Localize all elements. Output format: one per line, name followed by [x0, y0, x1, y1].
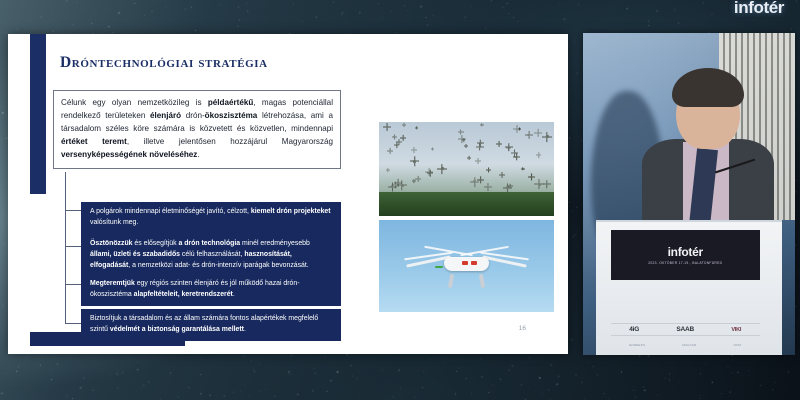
- connector-branch-4: [65, 323, 81, 324]
- drone-silhouette: [484, 183, 492, 191]
- slide-lead-paragraph: Célunk egy olyan nemzetközileg is példaé…: [53, 90, 341, 169]
- infoter-logo: infotér: [734, 0, 784, 18]
- connector-vertical-line: [65, 172, 66, 324]
- drone-silhouette: [437, 164, 447, 174]
- sponsor-logo-row: 4iG SAAB VIKI: [611, 323, 760, 336]
- connector-branch-2: [65, 246, 81, 247]
- drone-silhouette: [475, 158, 481, 164]
- drone-silhouette: [513, 125, 521, 133]
- sponsor-secondary: NISZ: [734, 343, 742, 347]
- drone-silhouette: [396, 139, 402, 145]
- drone-silhouette: [525, 131, 533, 139]
- drone-silhouette: [415, 176, 421, 182]
- bullet-box: Biztosítjuk a társadalom és az állam szá…: [81, 309, 341, 341]
- speaker-video-panel[interactable]: infotér 2023. OKTÓBER 17-19., BALATONFÜR…: [583, 33, 795, 355]
- drone-indicator: [471, 261, 477, 265]
- drone-silhouette: [534, 179, 544, 189]
- drone-silhouette: [542, 132, 552, 142]
- drone-silhouette: [480, 123, 483, 126]
- bullet-box: A polgárok mindennapi életminőségét javí…: [81, 202, 341, 234]
- sponsor-logo-row-secondary: ENDRESS MAGYAR NISZ: [611, 343, 760, 347]
- connector-branch-3: [65, 284, 81, 285]
- drone-silhouette: [534, 129, 542, 137]
- sponsor-logo-4ig: 4iG: [629, 326, 639, 333]
- drone-silhouette: [486, 168, 491, 173]
- drone-leg: [479, 274, 486, 289]
- drone-silhouette: [462, 139, 466, 143]
- drone-silhouette: [383, 123, 391, 131]
- drone-silhouette: [499, 172, 505, 178]
- drone-silhouette: [411, 147, 417, 153]
- drone-silhouette: [536, 152, 542, 158]
- stream-background: infotér Dróntechnológiai stratégia Célun…: [0, 0, 800, 400]
- drone-silhouette: [521, 167, 524, 170]
- drone-indicator: [462, 261, 468, 265]
- drone-silhouette: [477, 140, 484, 147]
- drone-indicator: [435, 266, 443, 269]
- drone-silhouette: [387, 148, 393, 154]
- slide-title: Dróntechnológiai stratégia: [60, 54, 268, 72]
- podium-infoter-logo: infotér: [668, 245, 703, 259]
- sponsor-secondary: MAGYAR: [682, 343, 696, 347]
- bullet-box: Ösztönözzük és elősegítjük a drón techno…: [81, 234, 341, 277]
- podium-event-date: 2023. OKTÓBER 17-19., BALATONFÜRED: [648, 261, 722, 265]
- drone-silhouette: [508, 184, 512, 188]
- drone-silhouette: [402, 123, 406, 127]
- drone-leg: [447, 274, 454, 289]
- podium-branding-plate: infotér 2023. OKTÓBER 17-19., BALATONFÜR…: [611, 230, 760, 281]
- slide-left-accent-bar: [30, 34, 46, 194]
- podium: infotér 2023. OKTÓBER 17-19., BALATONFÜR…: [596, 220, 783, 355]
- sponsor-logo-viki: VIKI: [731, 327, 741, 333]
- drone-silhouette: [496, 141, 502, 147]
- quadcopter-illustration: [411, 244, 523, 286]
- bullet-box: Megteremtjük egy régiós szinten élenjáró…: [81, 274, 341, 306]
- drone-silhouette: [412, 179, 416, 183]
- drone-silhouette: [467, 156, 471, 160]
- drone-swarm-photo: [379, 122, 554, 216]
- presentation-slide: Dróntechnológiai stratégia Célunk egy ol…: [8, 34, 568, 354]
- drone-silhouette: [415, 127, 418, 130]
- drone-silhouette: [464, 144, 468, 148]
- drone-silhouette: [458, 129, 463, 134]
- drone-silhouette: [410, 157, 420, 167]
- connector-branch-1: [65, 210, 81, 211]
- drone-silhouette: [543, 180, 551, 188]
- slide-page-number: 16: [519, 325, 526, 332]
- drone-silhouette: [394, 178, 402, 186]
- sponsor-secondary: ENDRESS: [629, 343, 645, 347]
- treeline: [379, 192, 554, 216]
- sponsor-logo-saab: SAAB: [676, 326, 694, 333]
- drone-silhouette: [505, 143, 513, 151]
- single-drone-photo: [379, 220, 554, 312]
- drone-silhouette: [386, 168, 390, 172]
- drone-silhouette: [470, 177, 480, 187]
- drone-silhouette: [431, 147, 434, 150]
- drone-silhouette: [425, 168, 433, 176]
